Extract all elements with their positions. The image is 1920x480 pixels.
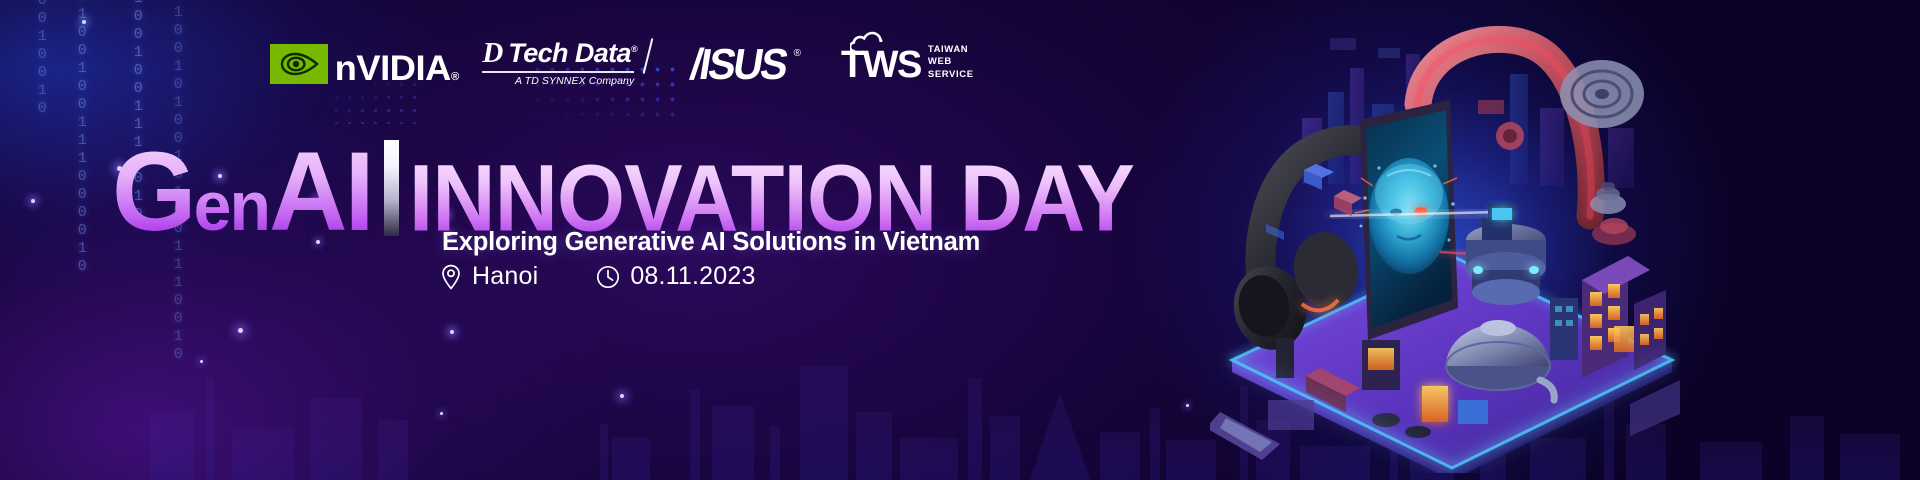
- genai-brand: GenAI: [112, 143, 372, 242]
- logo-tws: TWS TAIWAN WEB SERVICE: [841, 44, 974, 85]
- sparkle: [440, 412, 443, 415]
- event-meta-row: Hanoi 08.11.2023: [440, 262, 756, 291]
- nvidia-eye-glyph: [276, 49, 322, 79]
- map-pin-icon: [440, 264, 462, 290]
- headline-divider: [384, 140, 399, 236]
- techdata-slash-decoration: [643, 38, 654, 73]
- ai-tech-city-illustration: [1210, 8, 1680, 473]
- genai-g: G: [112, 129, 194, 254]
- event-location-text: Hanoi: [472, 262, 538, 291]
- event-location: Hanoi: [440, 262, 538, 291]
- tws-mark: TWS: [841, 46, 921, 84]
- logo-techdata: D Tech Data® A TD SYNNEX Company: [482, 39, 637, 89]
- sparkle: [238, 328, 243, 333]
- asus-wordmark: /ISUS: [688, 42, 789, 85]
- sparkle: [450, 330, 454, 334]
- clock-icon: [596, 265, 620, 289]
- event-date: 08.11.2023: [596, 262, 755, 291]
- sparkle: [31, 199, 35, 203]
- sparkle: [620, 394, 624, 398]
- nvidia-wordmark-text: nVIDIA: [335, 49, 451, 88]
- techdata-top-row: D Tech Data®: [482, 39, 637, 68]
- techdata-tagline: A TD SYNNEX Company: [482, 75, 634, 87]
- sparkle: [82, 20, 86, 24]
- sparkle: [200, 360, 203, 363]
- techdata-d-mark: D: [482, 39, 502, 68]
- tws-subtext-line3: SERVICE: [928, 69, 974, 82]
- headline-group: GenAI INNOVATION DAY: [108, 140, 1127, 242]
- techdata-wordmark-text: Tech Data: [508, 38, 631, 68]
- binary-column: 0100100111000010: [74, 0, 90, 276]
- event-banner: 0010010 0100100111000010 1001001110010 1…: [0, 0, 1920, 480]
- nvidia-eye-icon: [270, 44, 328, 84]
- logo-nvidia: nVIDIA®: [270, 44, 456, 84]
- tws-subtext-line1: TAIWAN: [928, 44, 974, 57]
- logo-asus: /ISUS ®: [691, 44, 801, 85]
- nvidia-trademark: ®: [451, 71, 459, 83]
- genai-ai: AI: [269, 129, 372, 254]
- sparkle: [1186, 404, 1189, 407]
- nvidia-wordmark: nVIDIA®: [335, 54, 459, 84]
- techdata-trademark: ®: [631, 44, 637, 54]
- techdata-rule: [482, 71, 634, 73]
- techdata-wordmark: Tech Data®: [508, 40, 637, 67]
- event-subtitle: Exploring Generative AI Solutions in Vie…: [442, 228, 980, 257]
- event-date-text: 08.11.2023: [630, 262, 755, 291]
- binary-column: 0010010: [34, 0, 50, 118]
- partner-logo-row: nVIDIA® D Tech Data® A TD SYNNEX Company…: [270, 33, 974, 95]
- asus-trademark: ®: [794, 48, 801, 59]
- genai-en: en: [194, 167, 269, 245]
- tws-subtext: TAIWAN WEB SERVICE: [928, 44, 974, 85]
- tws-subtext-line2: WEB: [928, 56, 974, 69]
- cloud-icon: [850, 31, 896, 53]
